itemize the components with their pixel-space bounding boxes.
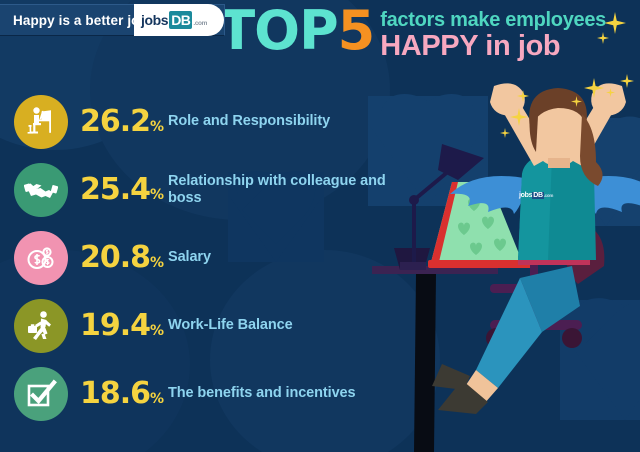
percent-sign: % xyxy=(150,391,164,407)
factor-value: 18.6 xyxy=(80,376,150,411)
jobsdb-logo[interactable]: jobsDB.com xyxy=(134,4,224,36)
list-item: 19.4% Work-Life Balance xyxy=(0,292,420,360)
laptop-base xyxy=(428,260,532,268)
list-item: 18.6% The benefits and incentives xyxy=(0,360,420,428)
factor-label: Role and Responsibility xyxy=(168,113,330,130)
list-item: 26.2% Role and Responsibility xyxy=(0,88,420,156)
percent-sign: % xyxy=(150,323,164,339)
factor-value: 20.8 xyxy=(80,240,150,275)
title-top-word: TOP xyxy=(218,0,337,62)
percent-sign: % xyxy=(150,119,164,135)
money-coins-icon xyxy=(14,231,68,285)
page-title: TOP5 factors make employees HAPPY in job xyxy=(218,6,606,61)
factor-label: Salary xyxy=(168,249,211,266)
brand-tagline: Happy is a better job. xyxy=(13,13,152,28)
title-five-number: 5 xyxy=(338,0,375,62)
factor-percent: 25.4% xyxy=(80,175,168,205)
factors-list: 26.2% Role and Responsibility 25.4% Rela… xyxy=(0,88,420,428)
infographic-poster: Happy is a better job. jobsDB.com TOP5 f… xyxy=(0,0,640,452)
tshirt-logo-jobs: jobs xyxy=(519,192,532,199)
shoe-back xyxy=(432,364,470,390)
factor-percent: 20.8% xyxy=(80,243,168,273)
factor-percent: 19.4% xyxy=(80,311,168,341)
title-line-happy: HAPPY in job xyxy=(380,32,606,61)
factor-percent: 18.6% xyxy=(80,379,168,409)
logo-jobs-part: jobs xyxy=(141,12,168,28)
title-line-factors: factors make employees xyxy=(380,10,606,31)
title-top5: TOP5 xyxy=(218,6,374,56)
factor-value: 19.4 xyxy=(80,308,150,343)
person-at-desk-icon xyxy=(14,95,68,149)
logo-db-part: DB xyxy=(169,11,192,29)
factor-value: 26.2 xyxy=(80,104,150,139)
factor-percent: 26.2% xyxy=(80,107,168,137)
logo-com-part: .com xyxy=(193,20,207,27)
factor-label: Work-Life Balance xyxy=(168,317,293,334)
tshirt-jobsdb-logo: jobsDB.com xyxy=(519,192,553,199)
checkbox-check-icon xyxy=(14,367,68,421)
percent-sign: % xyxy=(150,255,164,271)
running-person-briefcase-icon xyxy=(14,299,68,353)
factor-label: Relationship with colleague and boss xyxy=(168,173,400,207)
list-item: 20.8% Salary xyxy=(0,224,420,292)
brand-bar: Happy is a better job. jobsDB.com xyxy=(0,4,225,36)
percent-sign: % xyxy=(150,187,164,203)
neck xyxy=(548,158,570,168)
tshirt-logo-db: DB xyxy=(532,192,544,199)
tshirt-shade xyxy=(518,156,552,260)
tshirt-logo-com: .com xyxy=(544,193,553,198)
handshake-icon xyxy=(14,163,68,217)
list-item: 25.4% Relationship with colleague and bo… xyxy=(0,156,420,224)
title-subtext-group: factors make employees HAPPY in job xyxy=(380,6,606,61)
factor-label: The benefits and incentives xyxy=(168,385,355,402)
jobsdb-logo-text: jobsDB.com xyxy=(141,13,207,27)
factor-value: 25.4 xyxy=(80,172,150,207)
